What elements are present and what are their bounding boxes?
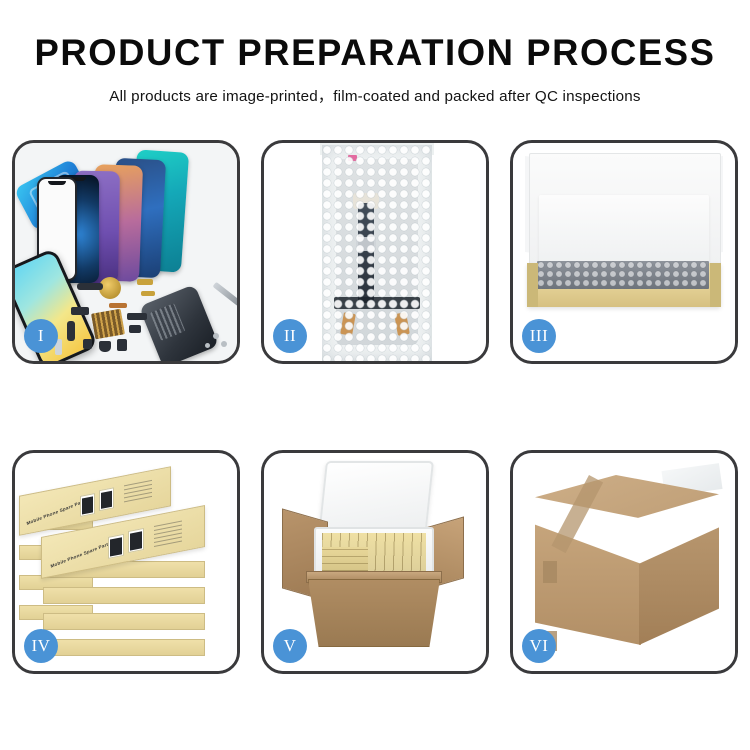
page-header: PRODUCT PREPARATION PROCESS All products… bbox=[0, 0, 750, 106]
chip-array-part bbox=[91, 309, 125, 340]
box-lid-label: Mobile Phone Spare Parts bbox=[50, 541, 111, 569]
box-lid-screen-image bbox=[80, 493, 95, 517]
box-lid-screen-image bbox=[128, 528, 144, 553]
connector-part bbox=[71, 307, 89, 315]
stacked-box bbox=[43, 613, 205, 630]
step-badge-4: IV bbox=[24, 629, 58, 663]
step-badge-5: V bbox=[273, 629, 307, 663]
button-part bbox=[129, 325, 141, 333]
copper-contact-part bbox=[109, 303, 127, 308]
box-lid-screen-image bbox=[99, 487, 114, 511]
foam-sheet bbox=[539, 195, 709, 269]
box-lid-screen-image bbox=[108, 534, 124, 559]
page-subtitle: All products are image-printed，film-coat… bbox=[0, 84, 750, 106]
carton-tape-patch bbox=[543, 561, 557, 583]
step-badge-1: I bbox=[24, 319, 58, 353]
yellow-boxes-inside bbox=[322, 533, 426, 571]
step-badge-3: III bbox=[522, 319, 556, 353]
vibrator-part bbox=[99, 341, 111, 352]
process-step-panel-5: V bbox=[261, 450, 489, 674]
bubble-wrap-bag bbox=[322, 145, 432, 361]
stacked-box bbox=[43, 639, 205, 656]
tweezers-tool bbox=[213, 282, 237, 306]
page-title: PRODUCT PREPARATION PROCESS bbox=[6, 34, 745, 73]
flex-strip-part bbox=[127, 313, 147, 320]
process-step-panel-1: I bbox=[12, 140, 240, 364]
phone-notch bbox=[48, 181, 66, 185]
process-step-panel-6: VI bbox=[510, 450, 738, 674]
foam-lid-open bbox=[318, 461, 434, 537]
carton-side-face bbox=[639, 505, 719, 645]
process-step-panel-4: Mobile Phone Spare Parts Mobile Phone Sp… bbox=[12, 450, 240, 674]
small-chip-part bbox=[83, 339, 92, 349]
flex-cable-part bbox=[137, 279, 153, 285]
earpiece-part bbox=[77, 283, 103, 290]
antenna-part bbox=[67, 321, 75, 341]
screw-part bbox=[213, 333, 219, 339]
carton-body bbox=[308, 579, 440, 647]
stacked-box bbox=[43, 587, 205, 604]
product-preparation-process-page: PRODUCT PREPARATION PROCESS All products… bbox=[0, 0, 750, 750]
process-step-panel-3: III bbox=[510, 140, 738, 364]
process-step-panel-2: II bbox=[261, 140, 489, 364]
process-steps-grid: I II bbox=[12, 140, 740, 680]
step-badge-6: VI bbox=[522, 629, 556, 663]
step-badge-2: II bbox=[273, 319, 307, 353]
bubble-texture bbox=[322, 145, 432, 361]
box-side-left bbox=[527, 263, 538, 307]
box-lid-label: Mobile Phone Spare Parts bbox=[26, 498, 87, 526]
bubble-wrapped-contents bbox=[537, 261, 709, 289]
box-side-right bbox=[710, 263, 721, 307]
camera-part bbox=[117, 339, 127, 351]
screw-part bbox=[205, 343, 210, 348]
screw-part bbox=[221, 341, 227, 347]
flex-cable-part bbox=[141, 291, 155, 296]
